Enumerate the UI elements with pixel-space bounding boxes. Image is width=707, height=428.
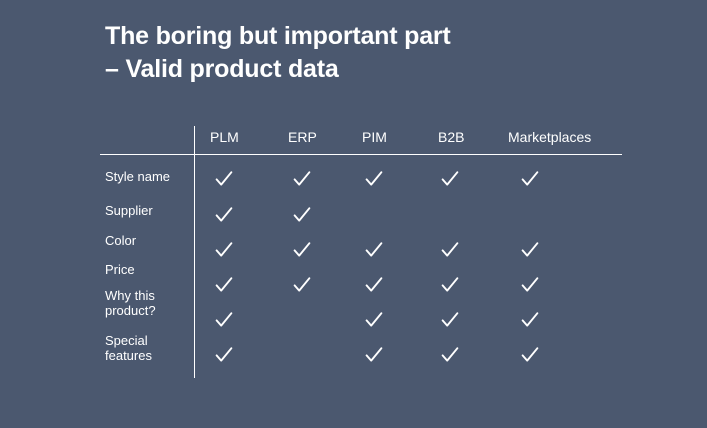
row-label-why-this-product: Why this product? xyxy=(105,288,190,318)
check-mark-icon xyxy=(440,240,460,260)
page-title: The boring but important part – Valid pr… xyxy=(105,20,451,87)
check-mark-icon xyxy=(440,310,460,330)
column-header-pim: PIM xyxy=(362,129,387,145)
check-mark-icon xyxy=(440,169,460,189)
check-mark-icon xyxy=(214,205,234,225)
row-label-special-features: Special features xyxy=(105,333,190,363)
check-mark-icon xyxy=(292,275,312,295)
cell-b2b-checked xyxy=(440,345,466,371)
check-mark-icon xyxy=(520,310,540,330)
cell-erp-checked xyxy=(292,169,318,195)
column-header-b2b: B2B xyxy=(438,129,464,145)
check-mark-icon xyxy=(364,310,384,330)
cell-b2b-checked xyxy=(440,275,466,301)
cell-plm-checked xyxy=(214,275,240,301)
cell-erp-checked xyxy=(292,205,318,231)
check-mark-icon xyxy=(292,169,312,189)
check-mark-icon xyxy=(214,169,234,189)
check-mark-icon xyxy=(292,240,312,260)
column-header-erp: ERP xyxy=(288,129,317,145)
cell-pim-checked xyxy=(364,275,390,301)
check-mark-icon xyxy=(520,345,540,365)
row-label-style-name: Style name xyxy=(105,169,190,184)
product-data-matrix: PLMERPPIMB2BMarketplaces Style nameSuppl… xyxy=(100,126,622,380)
cell-erp-checked xyxy=(292,275,318,301)
check-mark-icon xyxy=(364,275,384,295)
check-mark-icon xyxy=(214,240,234,260)
check-mark-icon xyxy=(440,345,460,365)
cell-plm-checked xyxy=(214,240,240,266)
check-mark-icon xyxy=(520,169,540,189)
cell-marketplaces-checked xyxy=(520,275,546,301)
cell-marketplaces-checked xyxy=(520,345,546,371)
cell-plm-checked xyxy=(214,310,240,336)
row-label-supplier: Supplier xyxy=(105,203,190,218)
check-mark-icon xyxy=(520,240,540,260)
check-mark-icon xyxy=(440,275,460,295)
cell-marketplaces-checked xyxy=(520,240,546,266)
row-label-price: Price xyxy=(105,262,190,277)
check-mark-icon xyxy=(292,205,312,225)
check-mark-icon xyxy=(520,275,540,295)
check-mark-icon xyxy=(364,240,384,260)
cell-plm-checked xyxy=(214,205,240,231)
cell-pim-checked xyxy=(364,240,390,266)
cell-pim-checked xyxy=(364,345,390,371)
cell-pim-checked xyxy=(364,169,390,195)
cell-b2b-checked xyxy=(440,169,466,195)
table-body: Style nameSupplierColorPriceWhy this pro… xyxy=(100,155,622,378)
cell-b2b-checked xyxy=(440,310,466,336)
cell-plm-checked xyxy=(214,345,240,371)
cell-marketplaces-checked xyxy=(520,310,546,336)
check-mark-icon xyxy=(214,275,234,295)
table-header-row: PLMERPPIMB2BMarketplaces xyxy=(100,126,622,154)
row-label-color: Color xyxy=(105,233,190,248)
check-mark-icon xyxy=(364,169,384,189)
check-mark-icon xyxy=(364,345,384,365)
column-header-plm: PLM xyxy=(210,129,239,145)
cell-erp-checked xyxy=(292,240,318,266)
cell-plm-checked xyxy=(214,169,240,195)
check-mark-icon xyxy=(214,345,234,365)
check-mark-icon xyxy=(214,310,234,330)
cell-pim-checked xyxy=(364,310,390,336)
column-header-marketplaces: Marketplaces xyxy=(508,129,591,145)
cell-marketplaces-checked xyxy=(520,169,546,195)
cell-b2b-checked xyxy=(440,240,466,266)
